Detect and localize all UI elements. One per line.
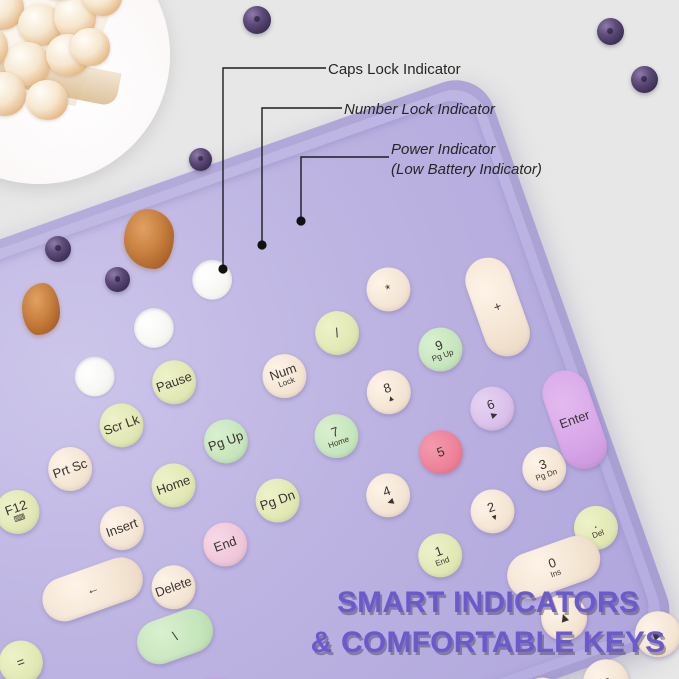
key-sublegend: Pg Dn [535, 468, 559, 483]
berry-top-right-2 [631, 66, 658, 93]
key-sublegend: ⌨ [13, 513, 27, 525]
key-legend: End [212, 534, 238, 554]
key-numpad-2[interactable]: 2▼ [464, 483, 520, 539]
headline-line-2: & COMFORTABLE KEYS [302, 623, 674, 663]
key-legend: 5 [435, 445, 446, 460]
berry-left-2 [105, 267, 130, 292]
key-home[interactable]: Home [145, 457, 201, 513]
key-numpad-mul[interactable]: * [360, 261, 416, 317]
key-sublegend: ◀ [386, 497, 395, 507]
key-numpad-9[interactable]: 9Pg Up [412, 321, 468, 377]
key-legend: Pg Dn [258, 488, 296, 513]
key-legend: Pause [155, 370, 194, 395]
key-legend: Home [155, 473, 192, 497]
key-scr-lk[interactable]: Scr Lk [93, 397, 149, 453]
key-equals[interactable]: = [0, 634, 49, 679]
key-f12[interactable]: F12⌨ [0, 484, 46, 540]
headline-line-1: SMART INDICATORS [302, 583, 674, 623]
key-legend: = [15, 655, 27, 670]
key-enter-main[interactable]: ← [132, 672, 245, 679]
key-sublegend: End [435, 556, 451, 568]
key-legend: Delete [154, 575, 194, 600]
key-legend: Insert [104, 516, 139, 539]
berry-left-1 [45, 236, 71, 262]
key-pg-up[interactable]: Pg Up [198, 413, 254, 469]
key-backspace[interactable]: ← [36, 551, 149, 627]
berry-left-3 [189, 148, 212, 171]
key-num-lock[interactable]: NumLock [256, 348, 312, 404]
key-legend: Pg Up [207, 429, 245, 454]
headline: SMART INDICATORS & COMFORTABLE KEYS [302, 583, 674, 663]
caps-lock-led [69, 351, 120, 402]
key-backslash[interactable]: \ [131, 603, 219, 671]
key-numpad-div[interactable]: / [309, 305, 365, 361]
key-delete[interactable]: Delete [145, 559, 201, 615]
key-sublegend: Pg Up [431, 349, 455, 364]
key-insert[interactable]: Insert [94, 500, 150, 556]
product-feature-image: F11F12⌨Prt ScScr LkPauseInsertHomePg UpD… [0, 0, 679, 679]
walnut-1 [124, 209, 174, 269]
key-pg-dn[interactable]: Pg Dn [249, 472, 305, 528]
key-numpad-7[interactable]: 7Home [308, 408, 364, 464]
key-numpad-4[interactable]: 4◀ [360, 467, 416, 523]
key-legend: * [384, 282, 393, 296]
key-numpad-plus[interactable]: + [459, 251, 536, 363]
key-numpad-6[interactable]: 6▶ [464, 381, 520, 437]
meringue-peak [70, 28, 110, 66]
key-legend: ▼ [598, 674, 615, 679]
key-legend: / [333, 326, 341, 340]
key-legend: \ [171, 630, 179, 644]
walnut-2 [22, 283, 60, 335]
key-legend: Enter [558, 408, 592, 431]
berry-mid-top [243, 6, 271, 34]
key-sublegend: Home [327, 435, 350, 450]
key-sublegend: Del [591, 529, 605, 541]
key-pause[interactable]: Pause [146, 354, 202, 410]
meringue-peak [26, 80, 68, 120]
key-legend: Prt Sc [51, 457, 89, 481]
key-numpad-5[interactable]: 5 [413, 424, 469, 480]
key-legend: ← [84, 581, 101, 598]
key-sublegend: ▼ [490, 513, 500, 523]
power-led [187, 254, 238, 305]
key-end[interactable]: End [197, 516, 253, 572]
key-sublegend: ▶ [490, 410, 499, 420]
number-lock-led [128, 302, 179, 353]
key-prt-sc[interactable]: Prt Sc [42, 441, 98, 497]
berry-top-right-1 [597, 18, 624, 45]
key-legend: + [492, 299, 504, 314]
key-numpad-8[interactable]: 8▲ [361, 364, 417, 420]
key-sublegend: ▲ [386, 394, 396, 404]
key-numpad-1[interactable]: 1End [412, 527, 468, 583]
key-sublegend: Ins [550, 568, 563, 579]
key-legend: Scr Lk [102, 413, 141, 438]
